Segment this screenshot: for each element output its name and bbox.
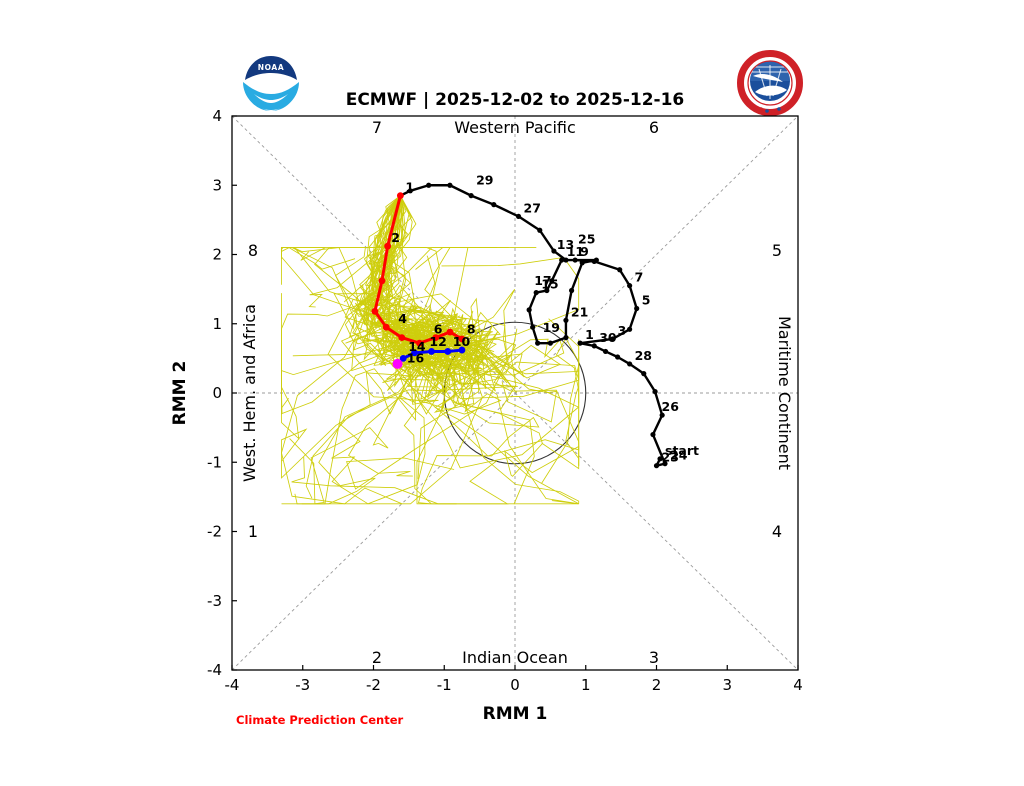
forecast-track-red-marker xyxy=(398,334,405,341)
observed-track-marker xyxy=(551,248,556,253)
track-point-label: 26 xyxy=(662,399,680,414)
y-tick-label: -2 xyxy=(207,523,222,541)
region-label-maritime-continent: Maritime Continent xyxy=(775,316,794,470)
observed-track-marker xyxy=(527,307,532,312)
track-point-label: 12 xyxy=(429,334,446,349)
track-point-label: 5 xyxy=(642,293,651,308)
track-point-label: 1 xyxy=(585,327,594,342)
observed-track-marker xyxy=(577,341,582,346)
track-point-label: 7 xyxy=(635,270,644,285)
forecast-track-red-marker xyxy=(379,277,386,284)
observed-track-marker xyxy=(641,371,646,376)
observed-track-marker xyxy=(563,335,568,340)
track-point-label: 27 xyxy=(524,200,541,215)
track-point-label: 30 xyxy=(599,330,617,345)
observed-track-marker xyxy=(580,260,585,265)
region-label-indian-ocean: Indian Ocean xyxy=(462,648,568,667)
y-tick-label: 0 xyxy=(212,384,222,402)
noaa-logo-text: NOAA xyxy=(258,63,284,72)
observed-track-marker xyxy=(491,202,496,207)
observed-track-marker xyxy=(548,341,553,346)
forecast-endpoint-marker xyxy=(393,359,403,369)
plot-area: start23242628301357911131517192125272912… xyxy=(232,116,798,670)
observed-track-marker xyxy=(627,283,632,288)
observed-track-marker xyxy=(615,354,620,359)
phase-label-3: 3 xyxy=(649,648,659,667)
x-tick-label: 1 xyxy=(581,676,591,694)
observed-track-marker xyxy=(469,193,474,198)
y-tick-label: 2 xyxy=(212,246,222,264)
observed-track-marker xyxy=(569,288,574,293)
track-point-label: 19 xyxy=(543,320,560,335)
y-tick-label: -3 xyxy=(207,592,222,610)
observed-track-marker xyxy=(650,432,655,437)
y-tick-label: -4 xyxy=(207,661,222,679)
observed-track-marker xyxy=(627,361,632,366)
region-label-western-pacific: Western Pacific xyxy=(454,118,576,137)
forecast-track-red-marker xyxy=(397,192,404,199)
track-point-label: 16 xyxy=(407,351,425,366)
x-tick-label: 4 xyxy=(793,676,803,694)
observed-track-marker xyxy=(627,327,632,332)
track-point-label: 2 xyxy=(391,230,400,245)
phase-label-5: 5 xyxy=(772,241,782,260)
cpc-credit-label: Climate Prediction Center xyxy=(236,713,404,727)
phase-label-1: 1 xyxy=(248,522,258,541)
x-tick-label: -4 xyxy=(225,676,240,694)
y-tick-label: 4 xyxy=(212,107,222,125)
track-point-label: 17 xyxy=(534,273,551,288)
observed-track-marker xyxy=(654,463,659,468)
observed-track-marker xyxy=(516,214,521,219)
x-tick-label: 0 xyxy=(510,676,520,694)
phase-label-6: 6 xyxy=(649,118,659,137)
track-point-label: 29 xyxy=(476,173,493,188)
track-point-label: 3 xyxy=(618,323,627,338)
track-point-label: 10 xyxy=(453,334,471,349)
x-tick-label: 2 xyxy=(652,676,662,694)
track-point-label: 21 xyxy=(571,304,588,319)
observed-track-marker xyxy=(530,325,535,330)
forecast-track-red-marker xyxy=(384,243,391,250)
y-tick-label: -1 xyxy=(207,453,222,471)
observed-track-marker xyxy=(594,257,599,262)
phase-label-2: 2 xyxy=(372,648,382,667)
y-tick-label: 3 xyxy=(212,176,222,194)
observed-track-marker xyxy=(426,183,431,188)
y-axis-title: RMM 2 xyxy=(170,361,190,426)
observed-track-marker xyxy=(535,341,540,346)
track-point-label: 13 xyxy=(557,237,574,252)
observed-track-marker xyxy=(603,349,608,354)
nws-logo: NATIONAL WEATHER SERVICE xyxy=(740,53,800,113)
region-label-west-hem-africa: West. Hem. and Africa xyxy=(240,304,259,482)
track-point-label: 24 xyxy=(670,448,688,463)
track-point-label: 4 xyxy=(398,311,407,326)
mjo-phase-diagram-svg: NOAA NATIONAL WEATHER SERVICE ECMWF | 20… xyxy=(0,0,1024,786)
x-tick-label: -2 xyxy=(366,676,381,694)
observed-track-marker xyxy=(537,228,542,233)
observed-track-marker xyxy=(617,267,622,272)
forecast-track-red-marker xyxy=(383,324,390,331)
x-tick-label: -1 xyxy=(437,676,452,694)
observed-track-marker xyxy=(563,318,568,323)
x-axis-title: RMM 1 xyxy=(483,704,548,724)
observed-track-marker xyxy=(447,183,452,188)
observed-track-marker xyxy=(634,306,639,311)
noaa-logo: NOAA xyxy=(242,55,300,113)
x-tick-label: -3 xyxy=(295,676,310,694)
track-point-label: 25 xyxy=(578,232,595,247)
track-point-label: 1 xyxy=(405,180,414,195)
phase-label-8: 8 xyxy=(248,241,258,260)
observed-track-marker xyxy=(652,389,657,394)
forecast-endpoint-magenta xyxy=(393,359,403,369)
x-tick-label: 3 xyxy=(722,676,732,694)
forecast-track-red-marker xyxy=(372,308,379,315)
observed-track-marker xyxy=(534,290,539,295)
y-tick-label: 1 xyxy=(212,315,222,333)
observed-track-marker xyxy=(592,343,597,348)
phase-label-4: 4 xyxy=(772,522,782,541)
track-point-label: 28 xyxy=(635,348,652,363)
mjo-phase-diagram-page: NOAA NATIONAL WEATHER SERVICE ECMWF | 20… xyxy=(0,0,1024,786)
phase-label-7: 7 xyxy=(372,118,382,137)
page-title: ECMWF | 2025-12-02 to 2025-12-16 xyxy=(346,90,685,110)
